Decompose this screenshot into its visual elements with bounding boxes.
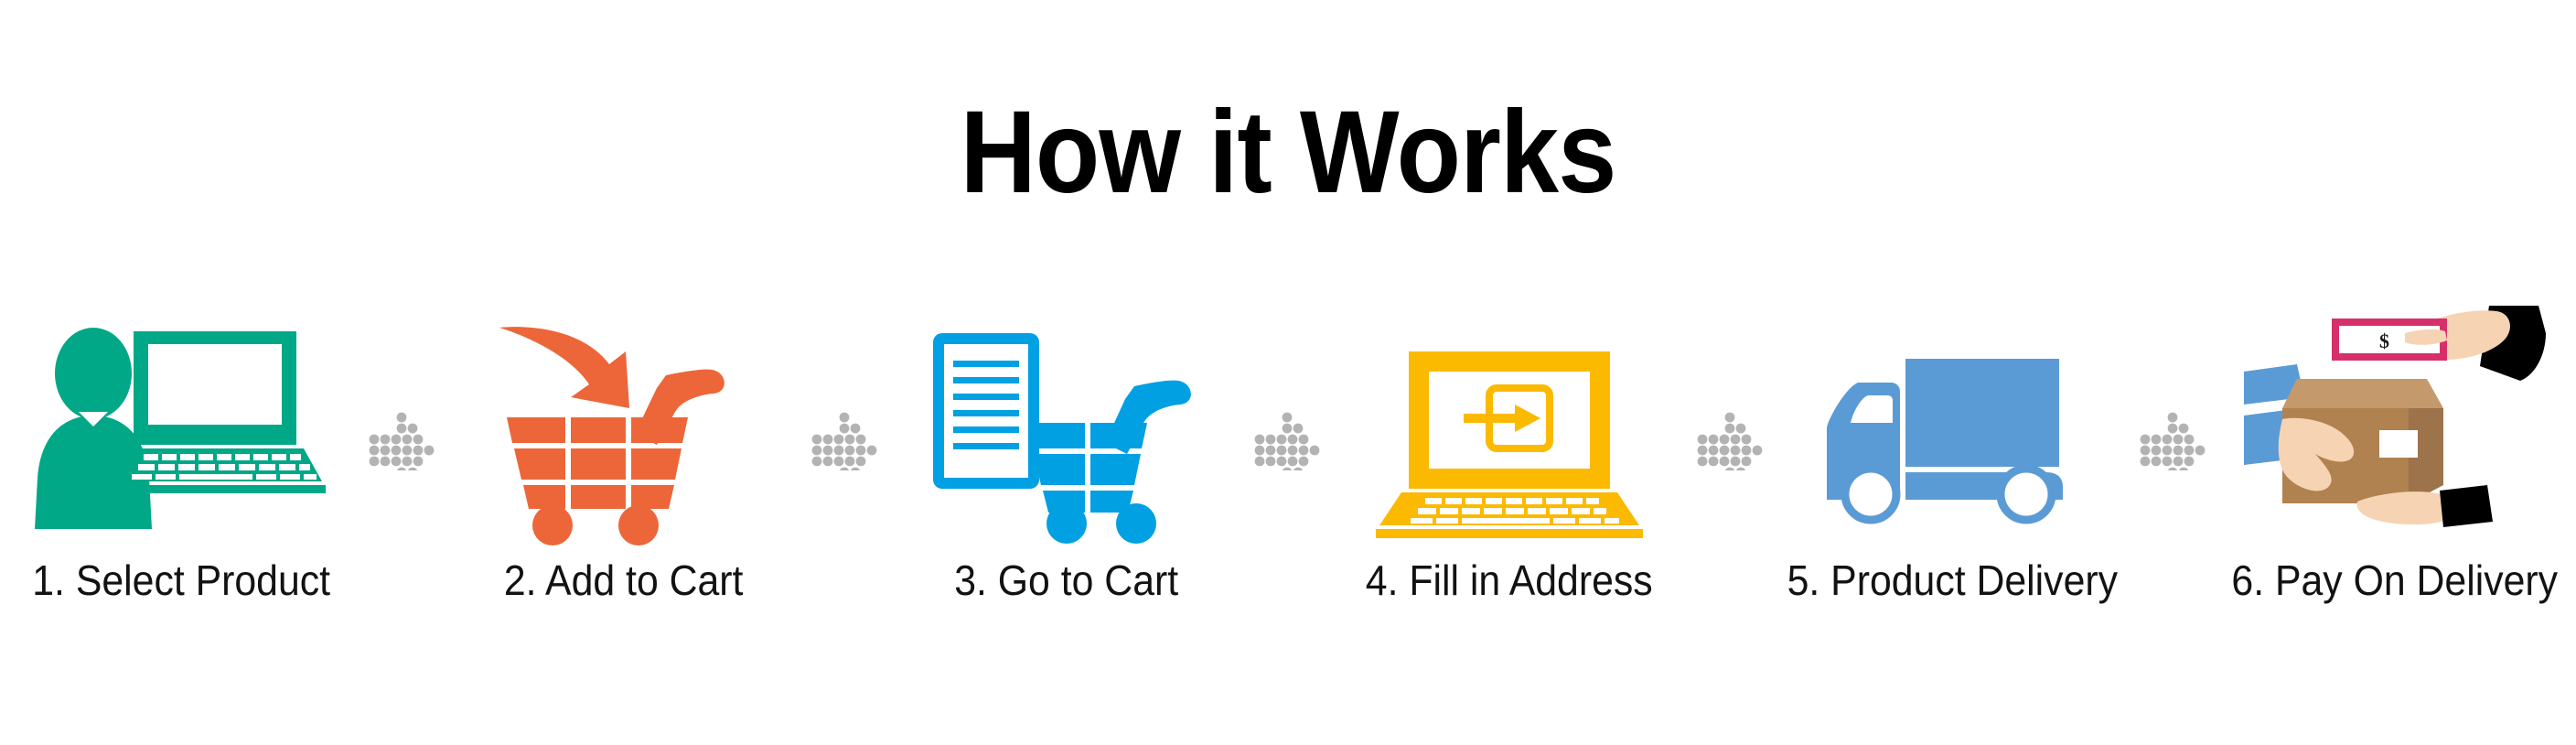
- laptop-login-icon: [1358, 302, 1660, 531]
- step-6-label: 6. Pay On Delivery: [2232, 556, 2559, 604]
- delivery-truck-icon: [1801, 302, 2103, 531]
- step-5-product-delivery[interactable]: 5. Product Delivery: [1773, 302, 2131, 659]
- person-at-laptop-icon: [30, 302, 332, 531]
- step-1-select-product[interactable]: 1. Select Product: [2, 302, 360, 659]
- separator-4: [1689, 302, 1773, 659]
- separator-5: [2131, 302, 2216, 659]
- step-3-label: 3. Go to Cart: [955, 556, 1179, 604]
- separator-2: [803, 302, 887, 659]
- steps-row: 1. Select Product: [0, 302, 2576, 659]
- step-2-add-to-cart[interactable]: 2. Add to Cart: [445, 302, 803, 659]
- separator-3: [1246, 302, 1330, 659]
- step-1-label: 1. Select Product: [32, 556, 330, 604]
- step-4-label: 4. Fill in Address: [1366, 556, 1653, 604]
- step-4-fill-in-address[interactable]: 4. Fill in Address: [1330, 302, 1689, 659]
- step-5-label: 5. Product Delivery: [1787, 556, 2117, 604]
- dotted-right-arrow-icon: [811, 412, 879, 470]
- page-title: How it Works: [129, 84, 2447, 221]
- document-and-cart-icon: [916, 302, 1218, 531]
- dotted-right-arrow-icon: [1254, 412, 1322, 470]
- cart-with-down-arrow-icon: [473, 302, 775, 531]
- dotted-right-arrow-icon: [1697, 412, 1765, 470]
- step-2-label: 2. Add to Cart: [504, 556, 744, 604]
- dollar-symbol: $: [2379, 329, 2389, 352]
- how-it-works-infographic: How it Works: [0, 0, 2576, 745]
- step-6-pay-on-delivery[interactable]: $: [2216, 302, 2574, 659]
- dotted-right-arrow-icon: [2140, 412, 2207, 470]
- hands-exchange-box-and-cash-icon: $: [2244, 302, 2546, 531]
- dotted-right-arrow-icon: [369, 412, 436, 470]
- separator-1: [360, 302, 445, 659]
- step-3-go-to-cart[interactable]: 3. Go to Cart: [887, 302, 1246, 659]
